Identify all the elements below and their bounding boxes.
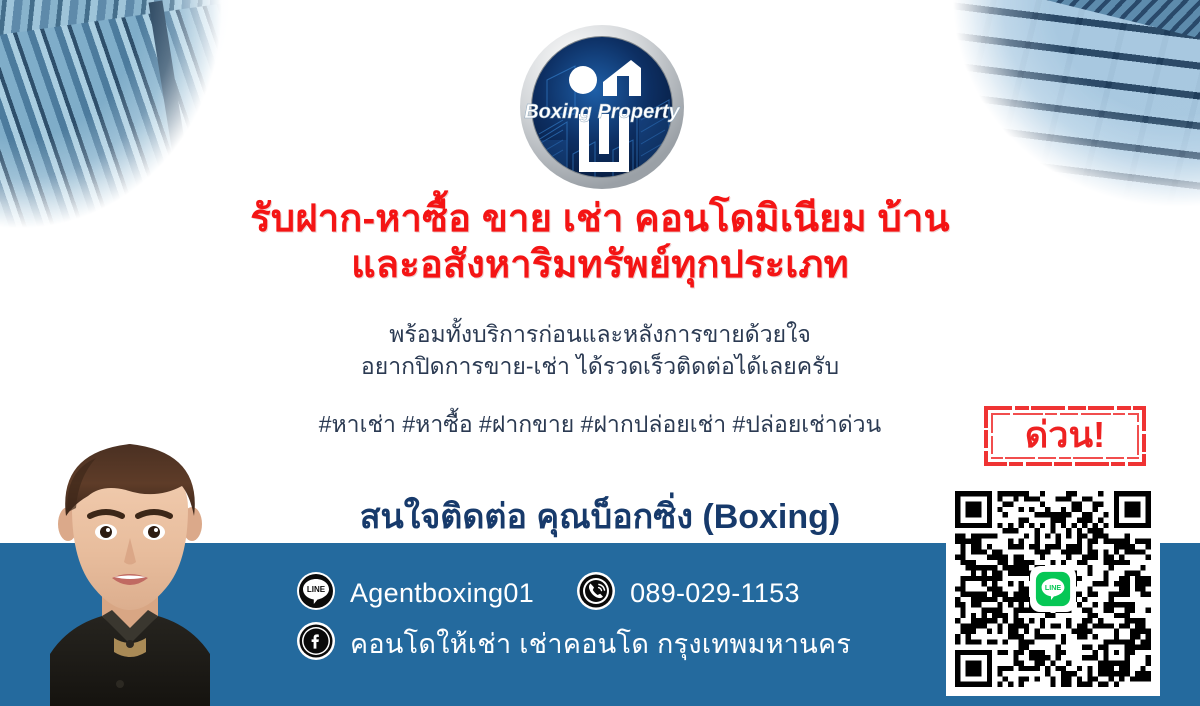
qr-line-badge: LINE (1030, 566, 1076, 612)
poster-canvas: Boxing Property รับฝาก-หาซื้อ ขาย เช่า ค… (0, 0, 1200, 706)
footer-row-line-phone: LINE Agentboxing01 089-029-1153 (296, 568, 851, 618)
subtitle-line-2: อยากปิดการขาย-เช่า ได้รวดเร็วติดต่อได้เล… (0, 350, 1200, 382)
headline-line-2: และอสังหาริมทรัพย์ทุกประเภท (0, 242, 1200, 288)
footer-row-facebook: คอนโดให้เช่า เช่าคอนโด กรุงเทพมหานคร (296, 618, 851, 668)
phone-number-value: 089-029-1153 (630, 578, 800, 609)
svg-text:LINE: LINE (1045, 584, 1061, 592)
facebook-icon[interactable] (296, 621, 336, 666)
line-id-value: Agentboxing01 (350, 578, 534, 609)
facebook-page-value: คอนโดให้เช่า เช่าคอนโด กรุงเทพมหานคร (350, 622, 851, 665)
logo-wordmark: Boxing Property (524, 101, 680, 123)
line-qr-code[interactable]: LINE (946, 482, 1160, 696)
agent-portrait (6, 412, 254, 706)
status-badge-label: ด่วน! (982, 404, 1148, 468)
brand-logo: Boxing Property (517, 22, 687, 192)
status-badge-urgent: ด่วน! (982, 404, 1148, 468)
footer-contact-rows: LINE Agentboxing01 089-029-1153 (296, 568, 851, 668)
skyscraper-photo-right (914, 0, 1200, 216)
subtitle-line-1: พร้อมทั้งบริการก่อนและหลังการขายด้วยใจ (0, 318, 1200, 350)
phone-icon[interactable] (576, 571, 616, 616)
svg-text:LINE: LINE (307, 585, 326, 594)
page-headline: รับฝาก-หาซื้อ ขาย เช่า คอนโดมิเนียม บ้าน… (0, 196, 1200, 288)
headline-line-1: รับฝาก-หาซื้อ ขาย เช่า คอนโดมิเนียม บ้าน (0, 196, 1200, 242)
page-subtitle: พร้อมทั้งบริการก่อนและหลังการขายด้วยใจ อ… (0, 318, 1200, 382)
line-icon[interactable]: LINE (296, 571, 336, 616)
